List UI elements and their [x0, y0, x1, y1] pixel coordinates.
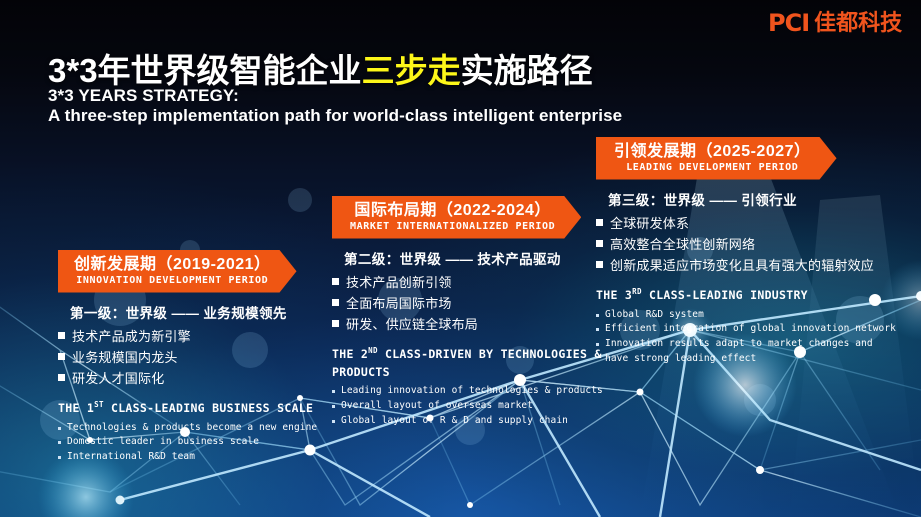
title-part-before: 3*3年世界级智能企业	[48, 52, 362, 89]
bullet-text: 业务规模国内龙头	[72, 348, 178, 368]
list-item: 研发人才国际化	[58, 369, 358, 389]
title-part-after: 实施路径	[461, 52, 593, 89]
bullet-text: 研发人才国际化	[72, 369, 164, 389]
banner-title-en-1: INNOVATION DEVELOPMENT PERIOD	[74, 275, 271, 288]
banner-title-cn-2: 国际布局期（2022-2024）	[350, 201, 555, 221]
subtitle-line-1: 3*3 YEARS STRATEGY:	[48, 86, 239, 106]
page-title: 3*3年世界级智能企业三步走实施路径	[48, 44, 593, 92]
bullet-text: 全面布局国际市场	[346, 294, 452, 314]
stage-bullets-cn-1: 技术产品成为新引擎 业务规模国内龙头 研发人才国际化	[58, 327, 358, 389]
stage-card-3: 引领发展期（2025-2027） LEADING DEVELOPMENT PER…	[596, 137, 896, 366]
bullet-text: 技术产品创新引领	[346, 273, 452, 293]
dot-bullet-icon	[596, 314, 599, 317]
dot-bullet-icon	[58, 456, 61, 459]
list-item: Technologies & products become a new eng…	[58, 421, 358, 436]
dot-bullet-icon	[596, 343, 599, 346]
stage-en-heading-1: THE 1ST CLASS-LEADING BUSINESS SCALE	[58, 399, 358, 418]
bullet-text: 创新成果适应市场变化且具有强大的辐射效应	[610, 256, 874, 276]
list-item: 高效整合全球性创新网络	[596, 235, 896, 255]
list-item: Global layout of R & D and supply chain	[332, 414, 632, 429]
square-bullet-icon	[58, 332, 65, 339]
stage-lead-3: 第三级：世界级 —— 引领行业	[608, 189, 896, 209]
brand-logo: PCI 佳都科技	[768, 8, 916, 38]
banner-title-cn-3: 引领发展期（2025-2027）	[614, 142, 811, 162]
list-item: Efficient integration of global innovati…	[596, 322, 896, 337]
list-item: Innovation results adapt to market chang…	[596, 337, 896, 366]
stage-card-2: 国际布局期（2022-2024） MARKET INTERNATIONALIZE…	[332, 196, 632, 429]
list-item: Global R&D system	[596, 308, 896, 323]
en-heading-pre: THE 1	[58, 401, 94, 415]
square-bullet-icon	[58, 374, 65, 381]
list-item: 技术产品创新引领	[332, 273, 632, 293]
list-item: 技术产品成为新引擎	[58, 327, 358, 347]
dot-bullet-icon	[332, 390, 335, 393]
list-item: 全球研发体系	[596, 214, 896, 234]
dot-bullet-icon	[58, 427, 61, 430]
bullet-text: Global layout of R & D and supply chain	[341, 414, 568, 429]
list-item: 研发、供应链全球布局	[332, 315, 632, 335]
square-bullet-icon	[58, 353, 65, 360]
square-bullet-icon	[332, 320, 339, 327]
square-bullet-icon	[596, 261, 603, 268]
square-bullet-icon	[596, 240, 603, 247]
logo-text-cn: 佳都科技	[814, 12, 902, 34]
stage-body-1: 第一级：世界级 —— 业务规模领先 技术产品成为新引擎 业务规模国内龙头 研发人…	[58, 293, 358, 465]
dot-bullet-icon	[332, 405, 335, 408]
en-heading-ordinal: ND	[368, 346, 378, 355]
stage-lead-1: 第一级：世界级 —— 业务规模领先	[70, 302, 358, 322]
logo-mark-pci: PCI	[768, 11, 809, 35]
dot-bullet-icon	[596, 328, 599, 331]
en-heading-post: CLASS-LEADING BUSINESS SCALE	[104, 401, 313, 415]
stage-banner-1[interactable]: 创新发展期（2019-2021） INNOVATION DEVELOPMENT …	[58, 250, 297, 293]
list-item: 全面布局国际市场	[332, 294, 632, 314]
title-highlight: 三步走	[362, 52, 461, 89]
banner-title-en-2: MARKET INTERNATIONALIZED PERIOD	[350, 221, 555, 234]
banner-title-cn-1: 创新发展期（2019-2021）	[74, 255, 271, 275]
stage-banner-2[interactable]: 国际布局期（2022-2024） MARKET INTERNATIONALIZE…	[332, 196, 581, 239]
stage-bullets-en-3: Global R&D system Efficient integration …	[596, 308, 896, 367]
bullet-text: Overall layout of overseas market	[341, 399, 533, 414]
stage-en-heading-2: THE 2ND CLASS-DRIVEN BY TECHNOLOGIES & P…	[332, 345, 632, 381]
stage-bullets-cn-2: 技术产品创新引领 全面布局国际市场 研发、供应链全球布局	[332, 273, 632, 335]
square-bullet-icon	[332, 278, 339, 285]
en-heading-ordinal: RD	[632, 287, 642, 296]
subtitle-line-2: A three-step implementation path for wor…	[48, 106, 622, 126]
stage-en-heading-3: THE 3RD CLASS-LEADING INDUSTRY	[596, 286, 896, 305]
en-heading-pre: THE 2	[332, 347, 368, 361]
bullet-text: 高效整合全球性创新网络	[610, 235, 755, 255]
stage-banner-3[interactable]: 引领发展期（2025-2027） LEADING DEVELOPMENT PER…	[596, 137, 837, 180]
list-item: 业务规模国内龙头	[58, 348, 358, 368]
bullet-text: Leading innovation of technologies & pro…	[341, 384, 603, 399]
bullet-text: Innovation results adapt to market chang…	[605, 337, 896, 366]
bullet-text: International R&D team	[67, 450, 195, 465]
dot-bullet-icon	[58, 441, 61, 444]
bullet-text: Global R&D system	[605, 308, 704, 323]
list-item: Leading innovation of technologies & pro…	[332, 384, 632, 399]
en-heading-post: CLASS-LEADING INDUSTRY	[642, 288, 808, 302]
banner-title-en-3: LEADING DEVELOPMENT PERIOD	[614, 162, 811, 175]
en-heading-pre: THE 3	[596, 288, 632, 302]
stage-card-1: 创新发展期（2019-2021） INNOVATION DEVELOPMENT …	[58, 250, 358, 465]
stage-bullets-en-2: Leading innovation of technologies & pro…	[332, 384, 632, 428]
bullet-text: Efficient integration of global innovati…	[605, 322, 896, 337]
slide-canvas: PCI 佳都科技 3*3年世界级智能企业三步走实施路径 3*3 YEARS ST…	[0, 0, 921, 517]
bullet-text: Technologies & products become a new eng…	[67, 421, 317, 436]
list-item: Overall layout of overseas market	[332, 399, 632, 414]
stage-body-3: 第三级：世界级 —— 引领行业 全球研发体系 高效整合全球性创新网络 创新成果适…	[596, 180, 896, 367]
square-bullet-icon	[596, 219, 603, 226]
list-item: 创新成果适应市场变化且具有强大的辐射效应	[596, 256, 896, 276]
list-item: Domestic leader in business scale	[58, 435, 358, 450]
stage-body-2: 第二级：世界级 —— 技术产品驱动 技术产品创新引领 全面布局国际市场 研发、供…	[332, 239, 632, 429]
list-item: International R&D team	[58, 450, 358, 465]
stage-lead-2: 第二级：世界级 —— 技术产品驱动	[344, 248, 632, 268]
bullet-text: Domestic leader in business scale	[67, 435, 259, 450]
stage-bullets-en-1: Technologies & products become a new eng…	[58, 421, 358, 465]
bullet-text: 全球研发体系	[610, 214, 689, 234]
stage-bullets-cn-3: 全球研发体系 高效整合全球性创新网络 创新成果适应市场变化且具有强大的辐射效应	[596, 214, 896, 276]
dot-bullet-icon	[332, 420, 335, 423]
bullet-text: 研发、供应链全球布局	[346, 315, 478, 335]
square-bullet-icon	[332, 299, 339, 306]
en-heading-ordinal: ST	[94, 400, 104, 409]
bullet-text: 技术产品成为新引擎	[72, 327, 191, 347]
